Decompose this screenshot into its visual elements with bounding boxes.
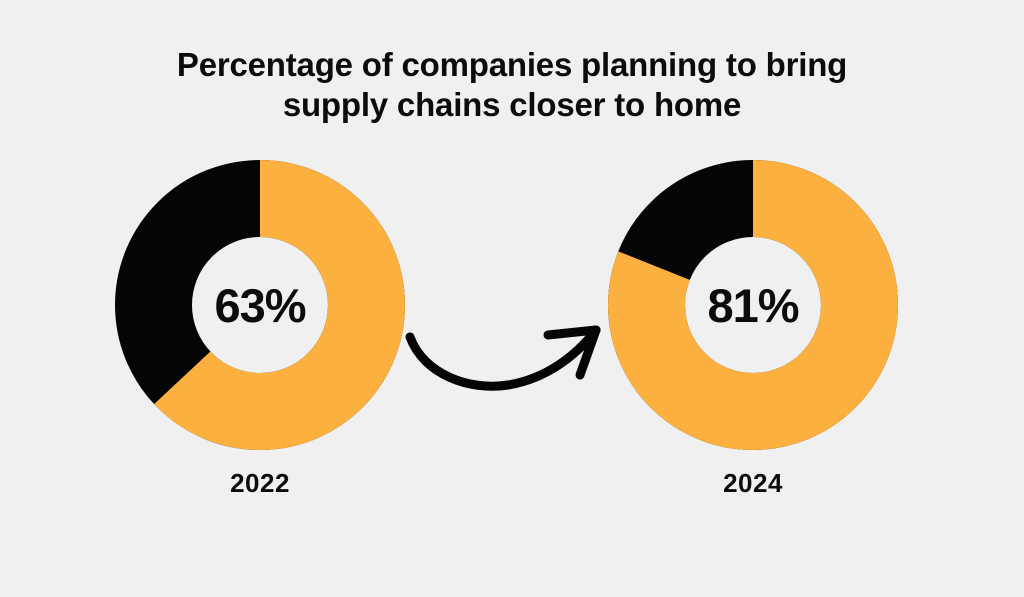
donut-svg-2024 [608,160,898,450]
year-label-2024: 2024 [608,468,898,499]
chart-title-line-2: supply chains closer to home [0,85,1024,125]
chart-title-line-1: Percentage of companies planning to brin… [0,45,1024,85]
arrow-curve-path [410,330,596,386]
donut-chart-2022: 63% [115,160,405,450]
chart-title: Percentage of companies planning to brin… [0,45,1024,125]
infographic-canvas: Percentage of companies planning to brin… [0,0,1024,597]
arrow-head-upper [548,330,596,335]
donut-chart-2024: 81% [608,160,898,450]
year-label-2022: 2022 [115,468,405,499]
curved-growth-arrow-icon [400,295,620,395]
donut-svg-2022 [115,160,405,450]
